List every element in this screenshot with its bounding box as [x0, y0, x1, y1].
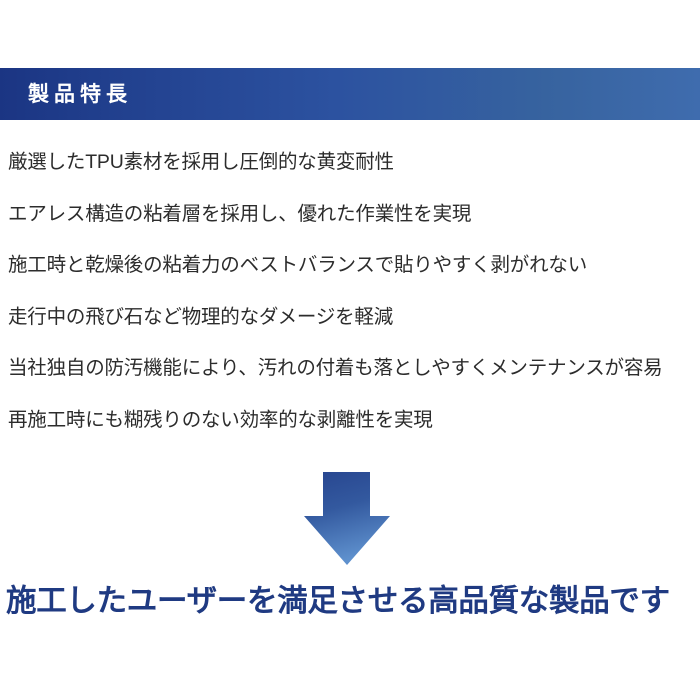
feature-list-item: 施工時と乾燥後の粘着力のベストバランスで貼りやすく剥がれない	[8, 240, 698, 292]
feature-list-item: 再施工時にも糊残りのない効率的な剥離性を実現	[8, 395, 698, 447]
section-header-bar: 製品特長	[0, 68, 700, 120]
feature-list: 厳選したTPU素材を採用し圧倒的な黄変耐性 エアレス構造の粘着層を採用し、優れた…	[8, 137, 698, 446]
feature-list-item: エアレス構造の粘着層を採用し、優れた作業性を実現	[8, 189, 698, 241]
page-title: 製品特長	[28, 84, 132, 105]
conclusion-headline: 施工したユーザーを満足させる高品質な製品です	[6, 582, 700, 620]
arrow-down-icon	[302, 471, 392, 567]
feature-list-item: 走行中の飛び石など物理的なダメージを軽減	[8, 292, 698, 344]
product-features-page: 製品特長 厳選したTPU素材を採用し圧倒的な黄変耐性 エアレス構造の粘着層を採用…	[0, 0, 700, 700]
feature-list-item: 厳選したTPU素材を採用し圧倒的な黄変耐性	[8, 137, 698, 189]
feature-list-item: 当社独自の防汚機能により、汚れの付着も落としやすくメンテナンスが容易	[8, 343, 698, 395]
